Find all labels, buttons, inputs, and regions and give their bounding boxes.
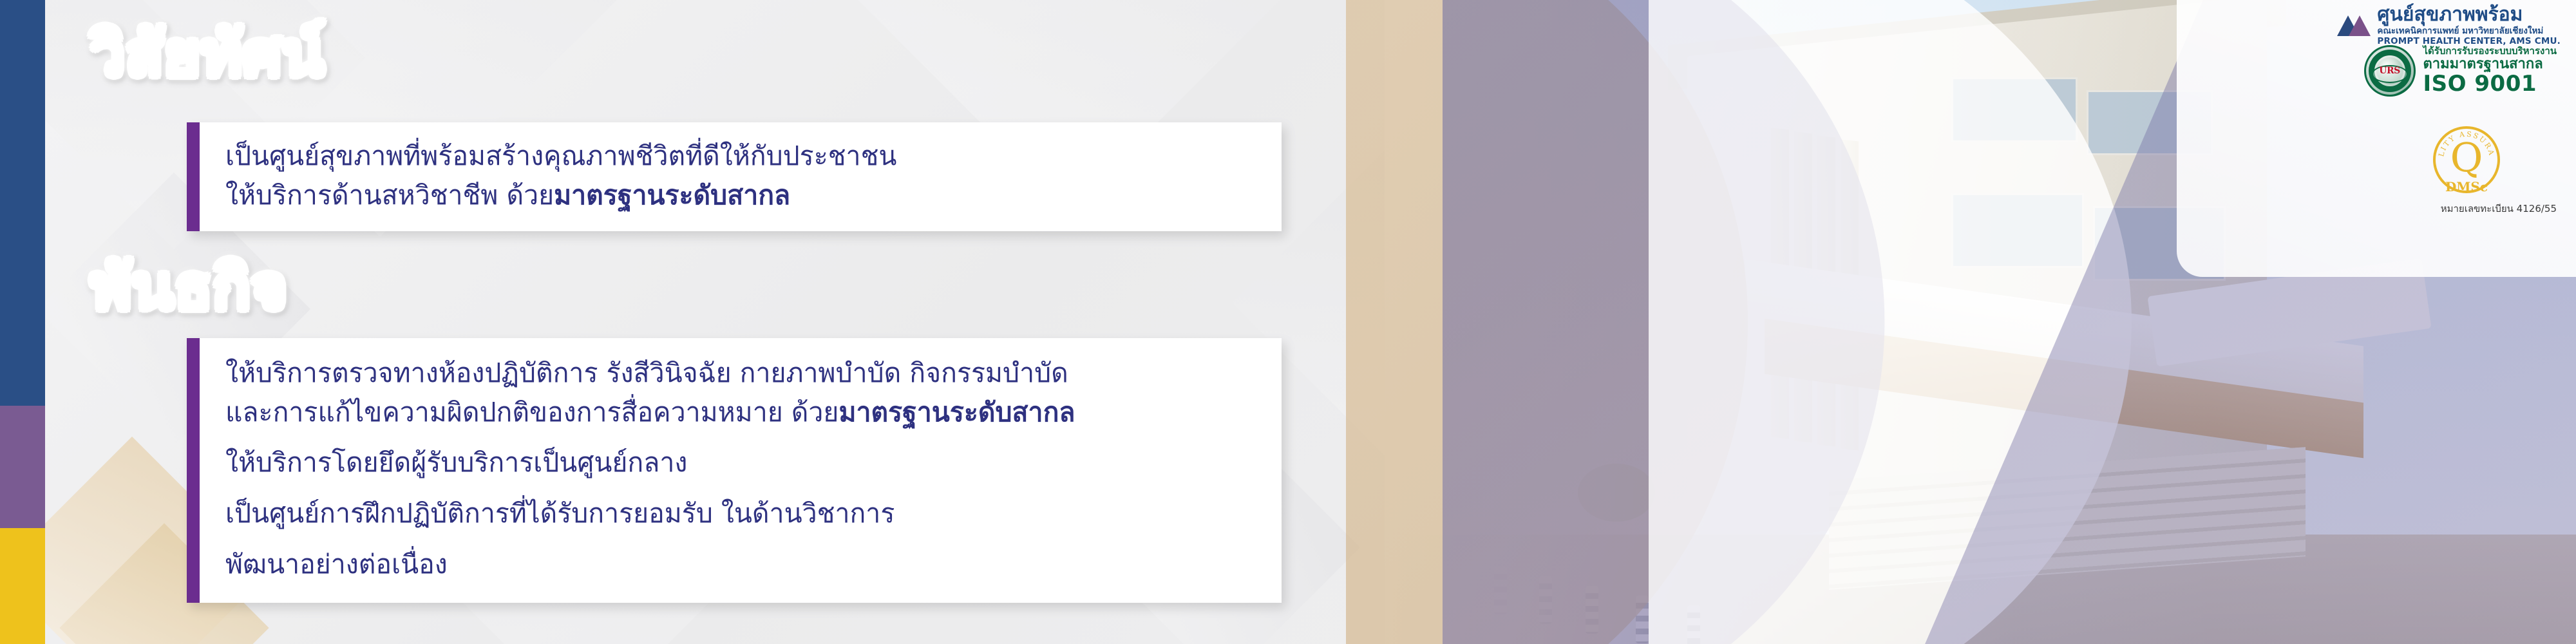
logo-chevron-purple [2349, 15, 2371, 36]
mission-heading: พันธกิจ [90, 238, 288, 336]
brand-text-block: ศูนย์สุขภาพพร้อม คณะเทคนิคการแพทย์ มหาวิ… [2377, 5, 2561, 46]
mission-line: และการแก้ไขความผิดปกติของการสื่อความหมาย… [225, 393, 1252, 432]
chevron-mountain-logo-icon [2337, 6, 2371, 40]
iso-text-block: ได้รับการรับรองระบบบริหารงาน ตามมาตรฐานส… [2423, 46, 2557, 95]
vision-card-body: เป็นศูนย์สุขภาพที่พร้อมสร้างคุณภาพชีวิตท… [200, 122, 1282, 231]
q-seal-subtext: DMSc [2433, 179, 2500, 194]
vision-line-text: เป็นศูนย์สุขภาพที่พร้อมสร้างคุณภาพชีวิตท… [225, 140, 896, 171]
brand-logo: ศูนย์สุขภาพพร้อม คณะเทคนิคการแพทย์ มหาวิ… [2337, 5, 2561, 46]
mission-line-text: ให้บริการโดยยึดผู้รับบริการเป็นศูนย์กลาง [225, 447, 687, 478]
iso-line-3: ISO 9001 [2423, 72, 2557, 95]
vision-card-accent-bar [187, 122, 200, 231]
vision-mission-banner: วิสัยทัศน์ เป็นศูนย์สุขภาพที่พร้อมสร้างค… [0, 0, 2576, 644]
mission-item: ให้บริการตรวจทางห้องปฏิบัติการ รังสีวินิ… [225, 354, 1252, 431]
mission-line-bold: มาตรฐานระดับสากล [838, 397, 1075, 428]
vision-line-text: ให้บริการด้านสหวิชาชีพ ด้วย [225, 180, 554, 211]
vision-line: ให้บริการด้านสหวิชาชีพ ด้วยมาตรฐานระดับส… [225, 176, 1252, 215]
stripe-segment-gold [0, 528, 45, 644]
vision-line-bold: มาตรฐานระดับสากล [554, 180, 790, 211]
vision-card: เป็นศูนย์สุขภาพที่พร้อมสร้างคุณภาพชีวิตท… [187, 122, 1282, 231]
quality-assurance-q-seal-icon: QUALITY ASSURANCE Q DMSc [2433, 126, 2500, 193]
mission-card-body: ให้บริการตรวจทางห้องปฏิบัติการ รังสีวินิ… [200, 338, 1282, 603]
mission-card: ให้บริการตรวจทางห้องปฏิบัติการ รังสีวินิ… [187, 338, 1282, 603]
mission-line-text: พัฒนาอย่างต่อเนื่อง [225, 549, 448, 580]
stripe-segment-purple [0, 406, 45, 528]
stripe-segment-blue [0, 0, 45, 406]
urs-center-text: URS [2379, 66, 2400, 76]
mission-line: ให้บริการตรวจทางห้องปฏิบัติการ รังสีวินิ… [225, 354, 1252, 393]
mission-line: ให้บริการโดยยึดผู้รับบริการเป็นศูนย์กลาง [225, 443, 1252, 482]
iso-certification-block: URS ได้รับการรับรองระบบบริหารงาน ตามมาตร… [2364, 45, 2557, 97]
urs-globe-seal-icon: URS [2364, 45, 2416, 97]
vision-heading: วิสัยทัศน์ [90, 5, 325, 103]
iso-line-1: ได้รับการรับรองระบบบริหารงาน [2423, 46, 2557, 57]
brand-name-english: PROMPT HEALTH CENTER, AMS CMU. [2377, 37, 2561, 46]
registration-number: หมายเลขทะเบียน 4126/55 [2383, 201, 2557, 216]
brand-faculty-thai: คณะเทคนิคการแพทย์ มหาวิทยาลัยเชียงใหม่ [2377, 27, 2561, 36]
left-color-stripe [0, 0, 45, 644]
iso-line-2: ตามมาตรฐานสากล [2423, 57, 2557, 71]
mission-line: พัฒนาอย่างต่อเนื่อง [225, 545, 1252, 584]
mission-line-text: เป็นศูนย์การฝึกปฏิบัติการที่ได้รับการยอม… [225, 498, 895, 529]
vision-line: เป็นศูนย์สุขภาพที่พร้อมสร้างคุณภาพชีวิตท… [225, 137, 1252, 176]
mission-line: เป็นศูนย์การฝึกปฏิบัติการที่ได้รับการยอม… [225, 494, 1252, 533]
mission-card-accent-bar [187, 338, 200, 603]
mission-line-text: และการแก้ไขความผิดปกติของการสื่อความหมาย… [225, 397, 838, 428]
brand-name-thai: ศูนย์สุขภาพพร้อม [2377, 5, 2561, 24]
mission-line-text: ให้บริการตรวจทางห้องปฏิบัติการ รังสีวินิ… [225, 357, 1068, 388]
